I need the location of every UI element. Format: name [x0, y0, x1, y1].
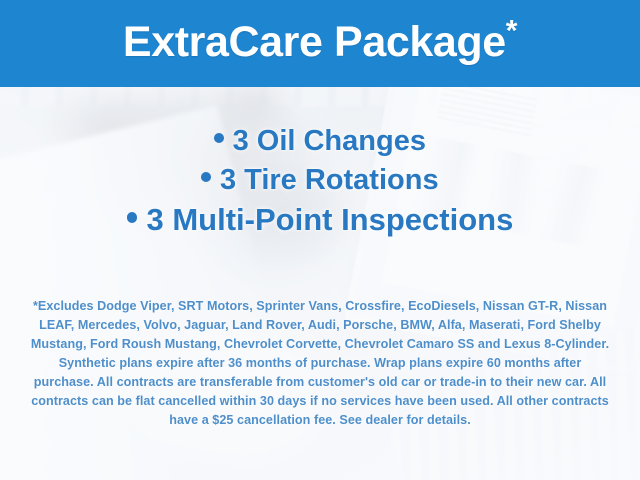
benefit-item-multi-point-inspections: 3 Multi-Point Inspections — [0, 204, 640, 236]
poster-content: 3 Oil Changes 3 Tire Rotations 3 Multi-P… — [0, 87, 640, 480]
bullet-dot-icon — [201, 172, 211, 182]
bullet-dot-icon — [127, 212, 138, 223]
benefit-item-tire-rotations: 3 Tire Rotations — [0, 166, 640, 196]
benefit-item-oil-changes: 3 Oil Changes — [0, 127, 640, 157]
extracare-package-poster: ExtraCare Package* 3 Oil Changes 3 Tire … — [0, 0, 640, 480]
benefit-label: 3 Tire Rotations — [220, 164, 439, 196]
page-title: ExtraCare Package* — [123, 21, 517, 64]
disclaimer-text: *Excludes Dodge Viper, SRT Motors, Sprin… — [28, 297, 612, 430]
bullet-dot-icon — [214, 133, 224, 143]
benefits-list: 3 Oil Changes 3 Tire Rotations 3 Multi-P… — [0, 127, 640, 236]
benefit-label: 3 Multi-Point Inspections — [146, 202, 513, 237]
header-band: ExtraCare Package* — [0, 0, 640, 87]
page-title-text: ExtraCare Package — [123, 18, 506, 66]
benefit-label: 3 Oil Changes — [233, 125, 426, 157]
page-title-asterisk: * — [506, 14, 517, 47]
